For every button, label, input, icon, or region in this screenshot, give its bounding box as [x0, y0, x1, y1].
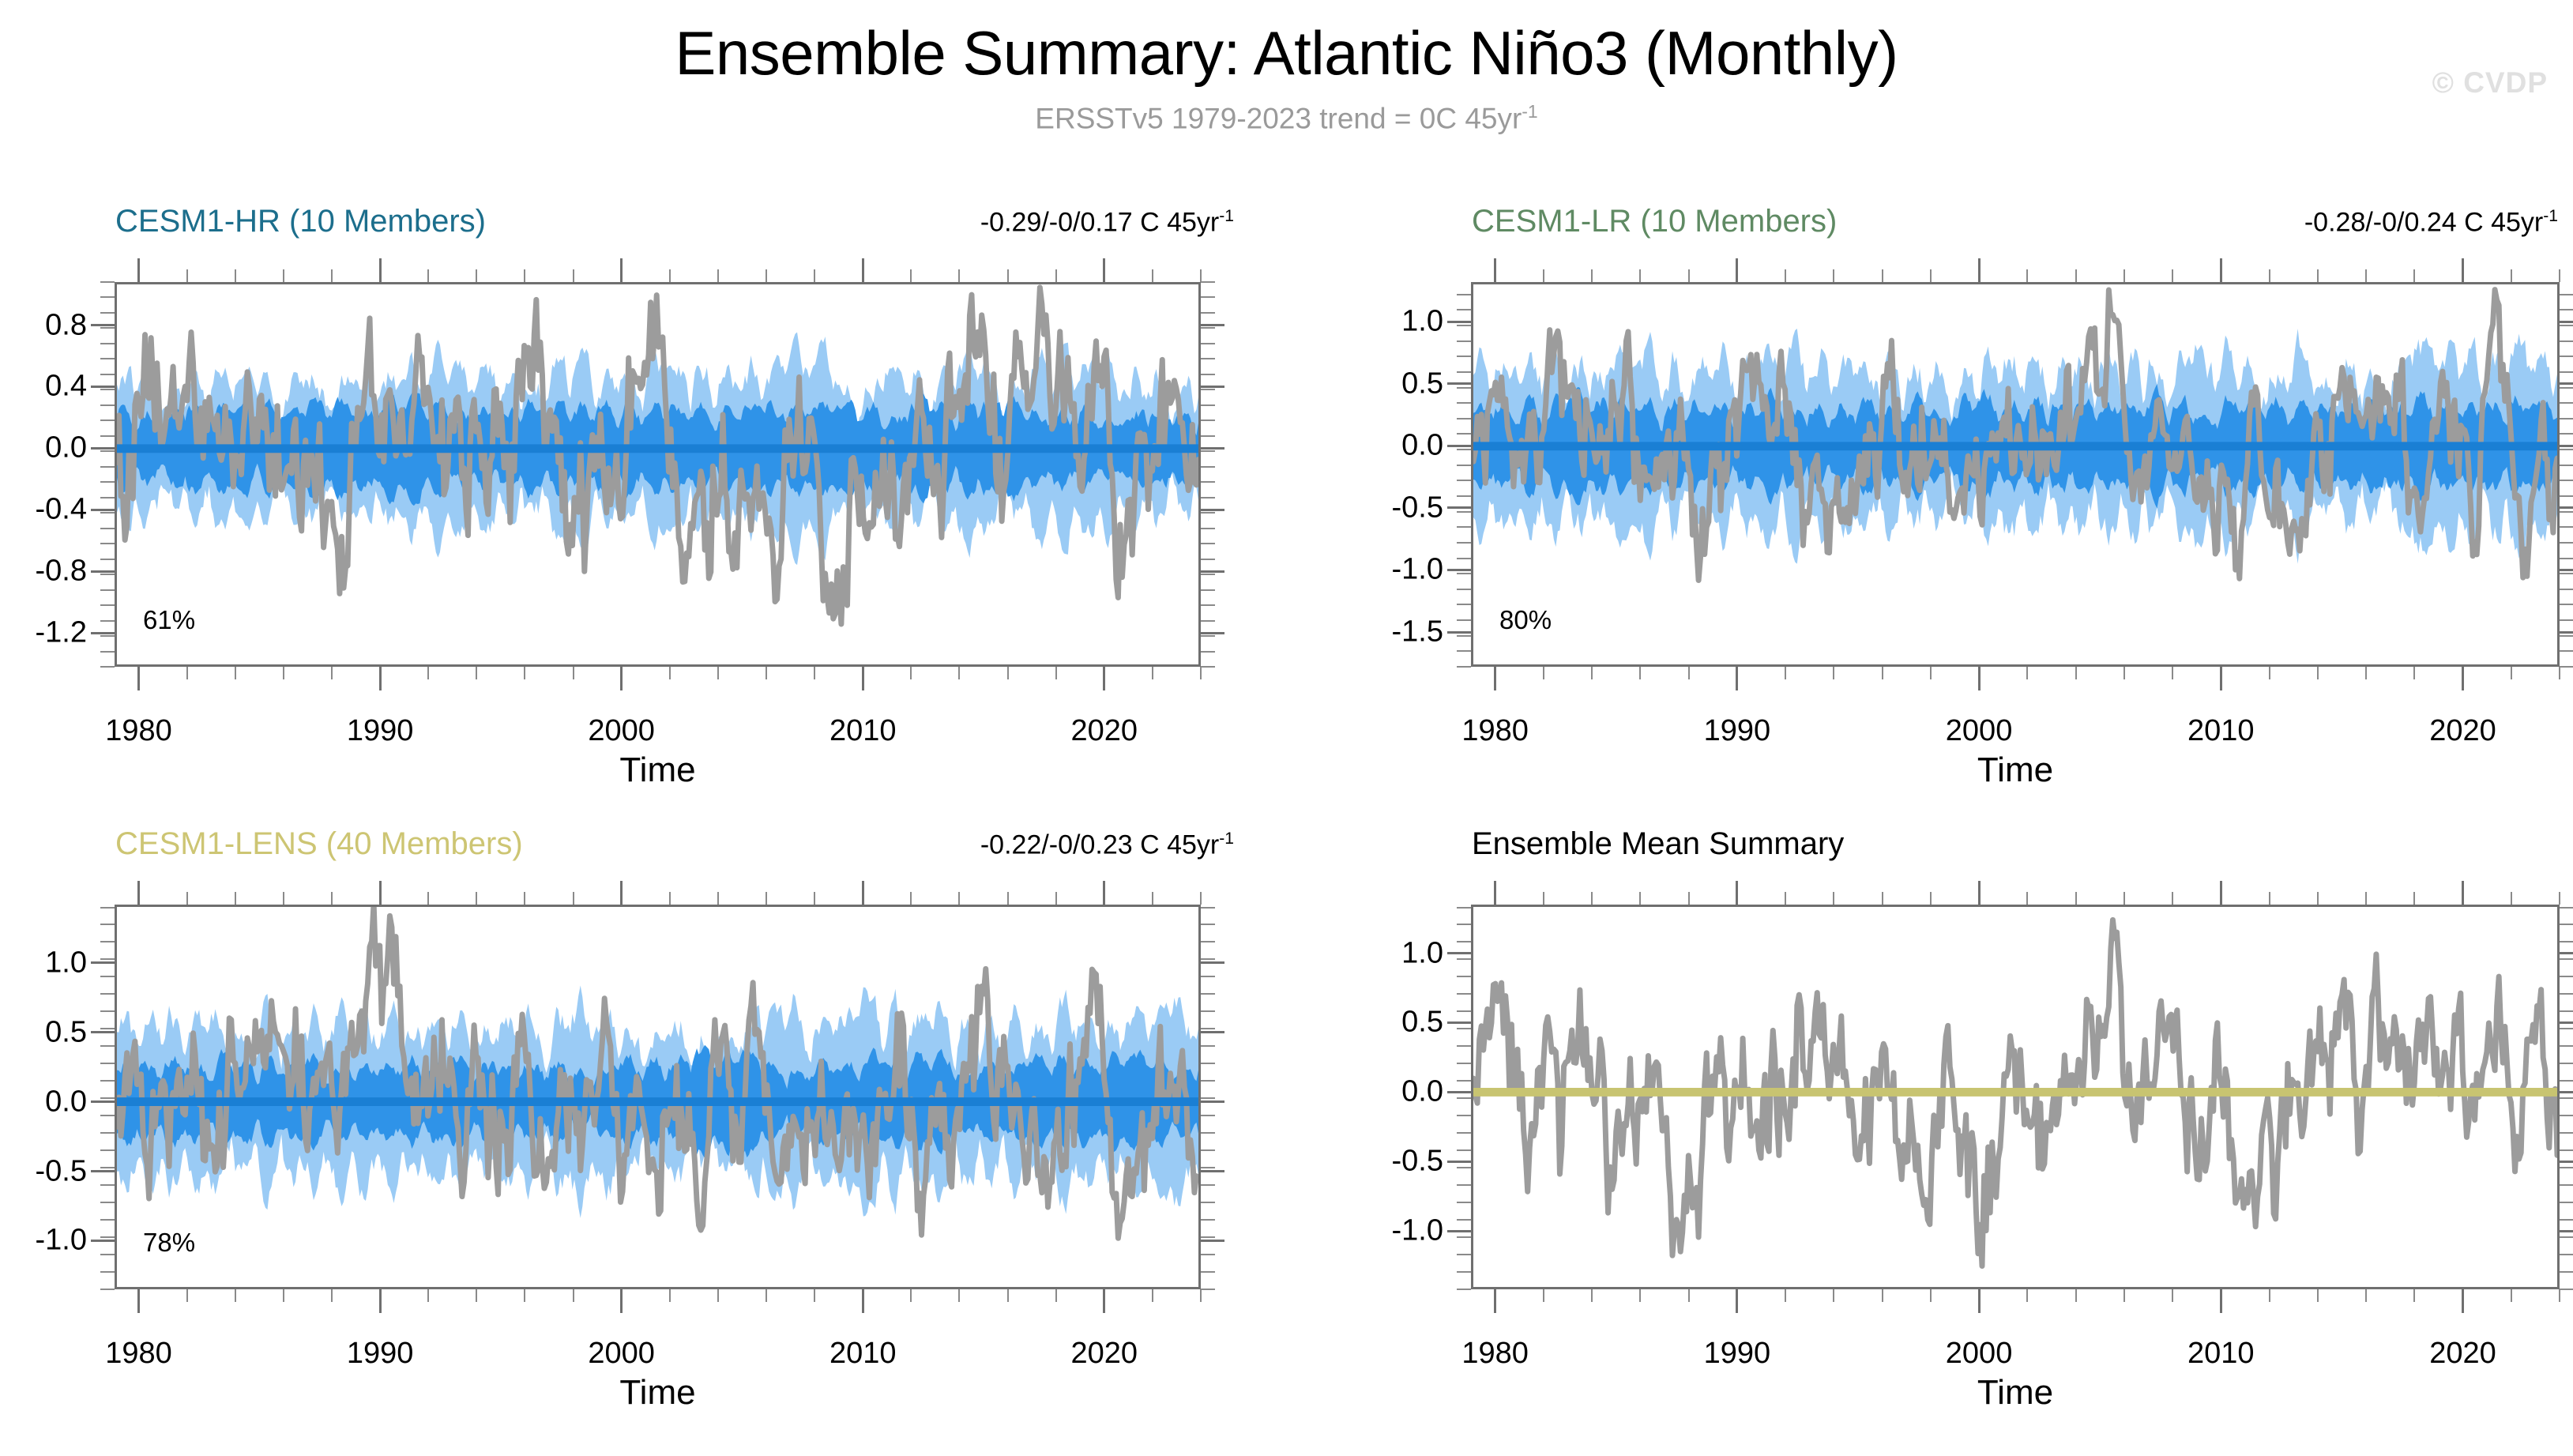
x-axis-minor-tick [2317, 667, 2319, 679]
y-axis-minor-tick [2560, 495, 2573, 497]
x-axis-tick-label: 1980 [105, 714, 172, 748]
y-axis-minor-tick [100, 1149, 115, 1151]
y-axis-minor-tick [1201, 941, 1215, 942]
y-axis-major-tick-right [2560, 1230, 2573, 1232]
x-axis-minor-tick [1688, 1289, 1690, 1302]
x-axis-label-cesm1-lr: Time [1471, 751, 2560, 790]
y-axis-minor-tick [2560, 1010, 2573, 1012]
x-axis-minor-tick [2026, 667, 2028, 679]
x-axis-label-cesm1-lens: Time [115, 1373, 1201, 1413]
panel-title-cesm1-lens: CESM1-LENS (40 Members) [115, 826, 523, 862]
y-axis-major-tick [1447, 1230, 1471, 1232]
y-axis-minor-tick [1201, 512, 1215, 514]
x-axis-minor-tick [524, 892, 525, 905]
y-axis-major-tick-right [1201, 447, 1224, 450]
y-axis-major-tick-right [1201, 632, 1224, 634]
y-axis-minor-tick [1201, 1028, 1215, 1029]
y-axis-minor-tick [2560, 1202, 2573, 1203]
y-axis-major-tick [91, 570, 115, 573]
y-axis-minor-tick [1201, 466, 1215, 468]
y-axis-minor-tick [1201, 450, 1215, 452]
x-axis-tick-label: 2000 [1946, 714, 2013, 748]
y-axis-minor-tick [2560, 1063, 2573, 1064]
y-axis-minor-tick [1201, 1167, 1215, 1168]
y-axis-minor-tick [2560, 402, 2573, 404]
y-axis-major-tick [91, 1240, 115, 1242]
y-axis-minor-tick [100, 1028, 115, 1029]
x-axis-minor-tick [1785, 1289, 1786, 1302]
y-axis-minor-tick [1457, 465, 1471, 466]
plot-area-ensemble-mean-summary[interactable] [1471, 905, 2560, 1289]
y-axis-minor-tick [1201, 1236, 1215, 1238]
x-axis-major-tick [1736, 667, 1738, 690]
y-axis-minor-tick [1201, 651, 1215, 653]
y-axis-minor-tick [2560, 356, 2573, 357]
x-axis-minor-tick [1639, 269, 1641, 282]
x-axis-major-tick [2220, 667, 2222, 690]
x-axis-major-tick-top [137, 881, 140, 905]
x-axis-minor-tick [1882, 269, 1883, 282]
y-axis-minor-tick [1201, 1080, 1215, 1082]
y-axis-minor-tick [1457, 1045, 1471, 1047]
x-axis-minor-tick [1055, 269, 1057, 282]
x-axis-minor-tick [717, 667, 719, 679]
plot-area-cesm1-hr[interactable] [115, 282, 1201, 667]
y-axis-major-tick [1447, 1091, 1471, 1093]
x-axis-minor-tick [1152, 1289, 1153, 1302]
y-axis-minor-tick [2560, 558, 2573, 559]
x-axis-minor-tick [1543, 892, 1544, 905]
x-axis-minor-tick [1833, 892, 1834, 905]
y-axis-minor-tick [2560, 650, 2573, 652]
y-axis-minor-tick [2560, 1080, 2573, 1082]
y-axis-minor-tick [2560, 387, 2573, 389]
y-axis-minor-tick [1457, 402, 1471, 404]
x-axis-minor-tick [1543, 269, 1544, 282]
y-axis-minor-tick [100, 1010, 115, 1012]
x-axis-minor-tick [1007, 1289, 1009, 1302]
y-axis-minor-tick [1457, 619, 1471, 621]
x-axis-major-tick [2462, 1289, 2464, 1313]
y-axis-minor-tick [100, 543, 115, 544]
x-axis-minor-tick [2026, 892, 2028, 905]
y-axis-minor-tick [2560, 1149, 2573, 1151]
y-axis-minor-tick [100, 435, 115, 437]
y-axis-minor-tick [100, 559, 115, 560]
y-axis-major-tick [91, 1170, 115, 1172]
y-axis-major-tick-right [2560, 631, 2573, 634]
x-axis-minor-tick [235, 667, 236, 679]
x-axis-minor-tick [2559, 269, 2560, 282]
y-axis-major-tick-right [1201, 324, 1224, 326]
y-axis-minor-tick [100, 1219, 115, 1221]
plot-canvas-cesm1-lr [1473, 284, 2557, 664]
x-axis-major-tick-top [2220, 258, 2222, 282]
x-axis-minor-tick [766, 892, 767, 905]
x-axis-minor-tick [2413, 892, 2415, 905]
y-axis-minor-tick [1201, 1184, 1215, 1186]
y-axis-minor-tick [100, 528, 115, 529]
x-axis-minor-tick [2511, 667, 2512, 679]
y-axis-minor-tick [100, 1132, 115, 1134]
y-axis-tick-label: 0.5 [1333, 367, 1443, 401]
y-axis-minor-tick [2560, 941, 2573, 942]
y-axis-tick-label: -1.0 [1333, 1214, 1443, 1248]
x-axis-minor-tick [476, 1289, 477, 1302]
x-axis-major-tick-top [1103, 881, 1105, 905]
y-axis-minor-tick [1457, 1063, 1471, 1064]
x-axis-minor-tick [283, 269, 284, 282]
y-axis-major-tick [91, 1031, 115, 1033]
x-axis-minor-tick [2075, 667, 2077, 679]
y-axis-major-tick-right [2560, 321, 2573, 323]
y-axis-minor-tick [100, 1289, 115, 1290]
agreement-percent-label-cesm1-lens: 78% [143, 1228, 195, 1258]
plot-canvas-cesm1-lens [117, 907, 1198, 1287]
x-axis-minor-tick [766, 1289, 767, 1302]
y-axis-minor-tick [100, 589, 115, 591]
x-axis-minor-tick [2365, 269, 2367, 282]
y-axis-minor-tick [100, 1202, 115, 1203]
y-axis-minor-tick [100, 1236, 115, 1238]
x-axis-tick-label: 1990 [1704, 714, 1771, 748]
x-axis-minor-tick [2123, 667, 2125, 679]
x-axis-minor-tick [1591, 269, 1593, 282]
x-axis-tick-label: 1990 [347, 714, 414, 748]
x-axis-minor-tick [2075, 1289, 2077, 1302]
y-axis-minor-tick [1201, 559, 1215, 560]
y-axis-minor-tick [1457, 573, 1471, 574]
x-axis-minor-tick [1200, 892, 1202, 905]
y-axis-minor-tick [1457, 325, 1471, 326]
x-axis-minor-tick [1688, 269, 1690, 282]
x-axis-minor-tick [186, 667, 188, 679]
y-axis-minor-tick [1457, 418, 1471, 419]
x-axis-minor-tick [910, 892, 912, 905]
panel-trend-label-cesm1-hr: -0.29/-0/0.17 C 45yr-1 [980, 207, 1234, 238]
y-axis-major-tick [91, 632, 115, 634]
y-axis-minor-tick [1457, 526, 1471, 528]
x-axis-tick-label: 2020 [1070, 714, 1138, 748]
x-axis-minor-tick [1152, 667, 1153, 679]
y-axis-tick-label: 0.5 [1333, 1006, 1443, 1040]
panel-header-cesm1-lr: CESM1-LR (10 Members)-0.28/-0/0.24 C 45y… [1450, 204, 2560, 248]
y-axis-tick-label: -1.0 [1333, 553, 1443, 587]
y-axis-minor-tick [1457, 1167, 1471, 1168]
y-axis-minor-tick [2560, 958, 2573, 960]
x-axis-minor-tick [717, 892, 719, 905]
y-axis-minor-tick [1201, 1132, 1215, 1134]
y-axis-minor-tick [1457, 1219, 1471, 1221]
x-axis-minor-tick [1007, 269, 1009, 282]
y-axis-minor-tick [100, 574, 115, 575]
y-axis-tick-label: -0.4 [0, 493, 87, 527]
x-axis-minor-tick [235, 1289, 236, 1302]
x-axis-minor-tick [2511, 892, 2512, 905]
y-axis-minor-tick [1457, 449, 1471, 450]
y-axis-tick-label: 0.0 [1333, 429, 1443, 463]
y-axis-major-tick-right [1201, 1100, 1224, 1103]
y-axis-minor-tick [100, 958, 115, 960]
x-axis-minor-tick [669, 892, 671, 905]
y-axis-major-tick [1447, 631, 1471, 634]
y-axis-minor-tick [2560, 993, 2573, 995]
y-axis-major-tick [1447, 382, 1471, 385]
y-axis-minor-tick [1201, 604, 1215, 606]
y-axis-minor-tick [1201, 635, 1215, 637]
y-axis-minor-tick [1457, 1115, 1471, 1116]
y-axis-minor-tick [1201, 435, 1215, 437]
y-axis-minor-tick [1201, 589, 1215, 591]
x-axis-minor-tick [1930, 269, 1932, 282]
y-axis-major-tick [91, 447, 115, 450]
y-axis-minor-tick [100, 635, 115, 637]
x-axis-major-tick [1103, 667, 1105, 690]
y-axis-minor-tick [2560, 1167, 2573, 1168]
x-axis-major-tick-top [2220, 881, 2222, 905]
y-axis-minor-tick [2560, 418, 2573, 419]
x-axis-minor-tick [476, 667, 477, 679]
y-axis-minor-tick [1201, 1271, 1215, 1273]
y-axis-minor-tick [100, 924, 115, 925]
y-axis-minor-tick [1201, 358, 1215, 359]
y-axis-minor-tick [2560, 480, 2573, 481]
x-axis-minor-tick [1200, 1289, 1202, 1302]
y-axis-minor-tick [1201, 1115, 1215, 1116]
x-axis-major-tick [137, 1289, 140, 1313]
x-axis-tick-label: 1980 [105, 1337, 172, 1371]
y-axis-tick-label: -0.5 [1333, 491, 1443, 525]
x-axis-minor-tick [2172, 892, 2173, 905]
subtitle-exponent: -1 [1522, 101, 1537, 122]
y-axis-minor-tick [1457, 340, 1471, 342]
y-axis-minor-tick [2560, 666, 2573, 668]
y-axis-minor-tick [1457, 309, 1471, 310]
x-axis-minor-tick [2413, 667, 2415, 679]
x-axis-tick-label: 1980 [1461, 714, 1529, 748]
y-axis-minor-tick [1457, 294, 1471, 295]
y-axis-minor-tick [1201, 976, 1215, 977]
x-axis-minor-tick [1785, 667, 1786, 679]
x-axis-tick-label: 2000 [588, 714, 655, 748]
x-axis-minor-tick [1639, 667, 1641, 679]
y-axis-major-tick-right [1201, 509, 1224, 511]
x-axis-minor-tick [814, 892, 815, 905]
x-axis-minor-tick [1639, 1289, 1641, 1302]
y-axis-minor-tick [1201, 1289, 1215, 1290]
y-axis-minor-tick [1457, 976, 1471, 977]
y-axis-minor-tick [1457, 371, 1471, 373]
y-axis-minor-tick [1457, 589, 1471, 590]
y-axis-minor-tick [1457, 924, 1471, 925]
y-axis-major-tick-right [2560, 952, 2573, 954]
panel-trend-label-cesm1-lr: -0.28/-0/0.24 C 45yr-1 [2304, 207, 2558, 238]
x-axis-minor-tick [910, 667, 912, 679]
x-axis-minor-tick [2559, 1289, 2560, 1302]
x-axis-major-tick-top [862, 881, 864, 905]
x-axis-minor-tick [1152, 269, 1153, 282]
y-axis-minor-tick [1457, 1080, 1471, 1082]
y-axis-minor-tick [2560, 604, 2573, 605]
x-axis-minor-tick [2559, 892, 2560, 905]
x-axis-minor-tick [2123, 1289, 2125, 1302]
y-axis-minor-tick [2560, 635, 2573, 637]
y-axis-minor-tick [1201, 1010, 1215, 1012]
x-axis-minor-tick [1007, 892, 1009, 905]
y-axis-major-tick [1447, 952, 1471, 954]
x-axis-major-tick-top [2462, 881, 2464, 905]
x-axis-minor-tick [1785, 269, 1786, 282]
x-axis-minor-tick [2269, 269, 2270, 282]
x-axis-minor-tick [283, 667, 284, 679]
x-axis-minor-tick [1688, 667, 1690, 679]
y-axis-minor-tick [100, 907, 115, 909]
y-axis-minor-tick [1457, 1289, 1471, 1290]
y-axis-minor-tick [100, 976, 115, 977]
x-axis-tick-label: 2000 [588, 1337, 655, 1371]
x-axis-minor-tick [524, 1289, 525, 1302]
x-axis-minor-tick [1543, 1289, 1544, 1302]
y-axis-minor-tick [1201, 374, 1215, 375]
y-axis-tick-label: 0.8 [0, 308, 87, 342]
y-axis-minor-tick [100, 1063, 115, 1064]
y-axis-minor-tick [2560, 371, 2573, 373]
y-axis-minor-tick [1457, 1271, 1471, 1273]
x-axis-minor-tick [766, 269, 767, 282]
trend-exponent: -1 [1219, 207, 1234, 225]
y-axis-minor-tick [2560, 924, 2573, 925]
x-axis-major-tick [620, 667, 623, 690]
x-axis-minor-tick [2317, 892, 2319, 905]
y-axis-minor-tick [1457, 650, 1471, 652]
y-axis-minor-tick [1201, 1045, 1215, 1047]
x-axis-major-tick-top [137, 258, 140, 282]
y-axis-tick-label: 0.4 [0, 370, 87, 404]
x-axis-minor-tick [2413, 269, 2415, 282]
panel-header-ensemble-mean-summary: Ensemble Mean Summary [1450, 826, 2560, 871]
x-axis-minor-tick [669, 269, 671, 282]
x-axis-minor-tick [2511, 269, 2512, 282]
x-axis-major-tick-top [1736, 881, 1738, 905]
y-axis-minor-tick [1201, 666, 1215, 668]
x-axis-minor-tick [235, 269, 236, 282]
y-axis-minor-tick [2560, 1236, 2573, 1238]
x-axis-minor-tick [331, 269, 333, 282]
x-axis-minor-tick [814, 667, 815, 679]
x-axis-minor-tick [814, 1289, 815, 1302]
y-axis-minor-tick [1457, 542, 1471, 544]
y-axis-major-tick-right [2560, 506, 2573, 509]
x-axis-major-tick-top [1103, 258, 1105, 282]
x-axis-minor-tick [524, 269, 525, 282]
x-axis-major-tick [1736, 1289, 1738, 1313]
x-axis-minor-tick [2075, 269, 2077, 282]
y-axis-minor-tick [1457, 1202, 1471, 1203]
y-axis-minor-tick [100, 666, 115, 668]
y-axis-minor-tick [1201, 543, 1215, 544]
y-axis-minor-tick [100, 1271, 115, 1273]
x-axis-major-tick-top [379, 881, 382, 905]
chart-subtitle: ERSSTv5 1979-2023 trend = 0C 45yr-1 [0, 101, 2573, 135]
y-axis-minor-tick [1457, 941, 1471, 942]
x-axis-major-tick [620, 1289, 623, 1313]
y-axis-minor-tick [1201, 1097, 1215, 1099]
y-axis-tick-label: -1.0 [0, 1224, 87, 1258]
y-axis-major-tick-right [1201, 1170, 1224, 1172]
y-axis-tick-label: 0.0 [0, 1085, 87, 1119]
y-axis-tick-label: 0.0 [0, 431, 87, 465]
x-axis-tick-label: 2010 [2187, 714, 2255, 748]
y-axis-tick-label: 1.0 [1333, 305, 1443, 339]
x-axis-major-tick [379, 667, 382, 690]
x-axis-label-cesm1-hr: Time [115, 751, 1201, 790]
plot-area-cesm1-lr[interactable] [1471, 282, 2560, 667]
x-axis-minor-tick [958, 1289, 960, 1302]
y-axis-minor-tick [2560, 573, 2573, 574]
y-axis-minor-tick [2560, 1132, 2573, 1134]
y-axis-major-tick [91, 509, 115, 511]
plot-area-cesm1-lens[interactable] [115, 905, 1201, 1289]
y-axis-minor-tick [1201, 419, 1215, 421]
x-axis-minor-tick [186, 269, 188, 282]
y-axis-minor-tick [1201, 1063, 1215, 1064]
x-axis-minor-tick [2317, 269, 2319, 282]
x-axis-tick-label: 2010 [829, 1337, 897, 1371]
x-axis-major-tick [137, 667, 140, 690]
y-axis-minor-tick [1201, 924, 1215, 925]
page-title: Ensemble Summary: Atlantic Niño3 (Monthl… [0, 17, 2573, 89]
y-axis-major-tick-right [1201, 961, 1224, 964]
y-axis-minor-tick [1201, 1149, 1215, 1151]
y-axis-tick-label: 0.0 [1333, 1075, 1443, 1109]
y-axis-minor-tick [100, 404, 115, 406]
y-axis-tick-label: 1.0 [0, 946, 87, 980]
x-axis-minor-tick [2511, 1289, 2512, 1302]
y-axis-tick-label: -1.2 [0, 616, 87, 650]
agreement-percent-label-cesm1-lr: 80% [1499, 605, 1552, 635]
agreement-percent-label-cesm1-hr: 61% [143, 605, 195, 635]
y-axis-minor-tick [1201, 296, 1215, 298]
x-axis-minor-tick [1785, 892, 1786, 905]
y-axis-minor-tick [100, 1115, 115, 1116]
x-axis-major-tick [1103, 1289, 1105, 1313]
y-axis-minor-tick [1201, 958, 1215, 960]
y-axis-minor-tick [1457, 1184, 1471, 1186]
x-axis-minor-tick [958, 892, 960, 905]
y-axis-minor-tick [2560, 976, 2573, 977]
x-axis-minor-tick [1882, 1289, 1883, 1302]
x-axis-minor-tick [331, 1289, 333, 1302]
y-axis-minor-tick [100, 374, 115, 375]
y-axis-minor-tick [1201, 389, 1215, 390]
x-axis-minor-tick [573, 892, 574, 905]
x-axis-minor-tick [1055, 667, 1057, 679]
x-axis-minor-tick [2559, 667, 2560, 679]
y-axis-minor-tick [2560, 1097, 2573, 1099]
x-axis-minor-tick [2172, 1289, 2173, 1302]
x-axis-minor-tick [2413, 1289, 2415, 1302]
panel-header-cesm1-hr: CESM1-HR (10 Members)-0.29/-0/0.17 C 45y… [93, 204, 1236, 248]
x-axis-major-tick [2220, 1289, 2222, 1313]
y-axis-minor-tick [2560, 907, 2573, 909]
y-axis-minor-tick [100, 358, 115, 359]
y-axis-minor-tick [1201, 993, 1215, 995]
x-axis-minor-tick [717, 1289, 719, 1302]
x-axis-major-tick [862, 1289, 864, 1313]
x-axis-minor-tick [524, 667, 525, 679]
x-axis-minor-tick [1543, 667, 1544, 679]
x-axis-minor-tick [669, 1289, 671, 1302]
